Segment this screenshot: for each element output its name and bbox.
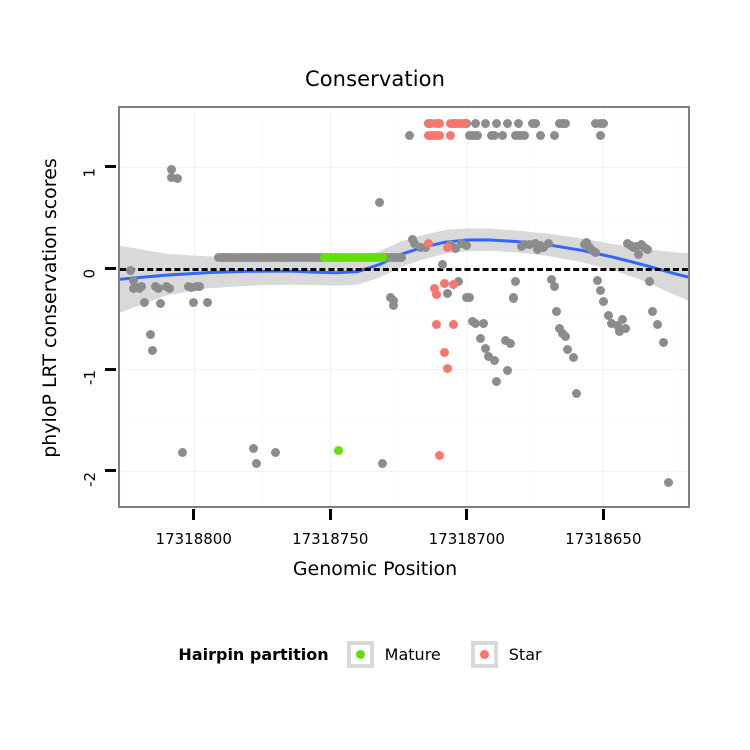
legend-items: MatureStar [347, 641, 572, 668]
y-axis-label: phyloP LRT conservation scores [39, 98, 61, 518]
legend: Hairpin partition MatureStar [0, 641, 750, 668]
data-point-other [561, 332, 570, 341]
x-tick-label: 17318750 [292, 530, 368, 548]
data-point-other [146, 330, 155, 339]
data-point-other [569, 353, 578, 362]
data-point-other [621, 324, 630, 333]
x-tick-label: 17318800 [156, 530, 232, 548]
data-point-other [490, 356, 499, 365]
y-tick-label: -2 [81, 472, 99, 487]
data-point-other [397, 253, 406, 262]
data-point-other [471, 119, 480, 128]
data-point-other [479, 319, 488, 328]
y-tick-label: -1 [81, 370, 99, 385]
data-point-star [443, 364, 452, 373]
legend-key-swatch [347, 641, 374, 668]
data-point-other [165, 284, 174, 293]
plot-area [120, 108, 688, 506]
data-point-other [252, 459, 261, 468]
x-axis-label: Genomic Position [0, 558, 750, 580]
conservation-chart: Conservation 10-1-2173188001731875017318… [0, 0, 750, 750]
data-point-other [195, 282, 204, 291]
y-tick-label: 1 [81, 168, 99, 178]
data-point-other [378, 459, 387, 468]
legend-item-star[interactable]: Star [471, 641, 566, 668]
y-tick-mark [105, 165, 116, 168]
legend-key-swatch [471, 641, 498, 668]
zero-reference-line [120, 268, 688, 271]
legend-item-mature[interactable]: Mature [347, 641, 465, 668]
data-point-star [460, 119, 469, 128]
data-point-other [173, 174, 182, 183]
data-point-star [449, 280, 458, 289]
y-tick-mark [105, 267, 116, 270]
legend-label: Mature [385, 645, 441, 664]
x-tick-mark [329, 509, 332, 520]
plot-panel [118, 106, 690, 508]
data-point-other [550, 282, 559, 291]
data-point-other [544, 239, 553, 248]
data-point-other [659, 338, 668, 347]
data-point-other [271, 448, 280, 457]
legend-dot-icon [480, 650, 489, 659]
data-point-other [148, 346, 157, 355]
y-tick-mark [105, 368, 116, 371]
data-point-other [572, 389, 581, 398]
x-tick-mark [192, 509, 195, 520]
data-point-star [432, 320, 441, 329]
y-tick-mark [105, 469, 116, 472]
x-tick-label: 17318700 [429, 530, 505, 548]
data-point-other [643, 245, 652, 254]
data-point-other [465, 293, 474, 302]
data-point-other [520, 131, 529, 140]
data-point-other [476, 334, 485, 343]
data-point-other [531, 119, 540, 128]
data-point-other [561, 119, 570, 128]
data-point-other [509, 294, 518, 303]
x-tick-label: 17318650 [565, 530, 641, 548]
data-point-other [599, 119, 608, 128]
data-point-mature [334, 446, 343, 455]
data-point-other [443, 289, 452, 298]
loess-smooth [120, 108, 688, 506]
legend-dot-icon [356, 650, 365, 659]
legend-title: Hairpin partition [178, 645, 328, 664]
data-point-mature [378, 253, 387, 262]
data-point-other [126, 266, 135, 275]
y-tick-label: 0 [81, 269, 99, 279]
data-point-other [596, 286, 605, 295]
x-tick-mark [465, 509, 468, 520]
data-point-other [563, 345, 572, 354]
data-point-other [645, 277, 654, 286]
data-point-star [435, 451, 444, 460]
data-point-star [449, 320, 458, 329]
chart-title: Conservation [0, 67, 750, 91]
data-point-other [591, 248, 600, 257]
legend-label: Star [509, 645, 542, 664]
x-tick-mark [602, 509, 605, 520]
data-point-other [503, 366, 512, 375]
data-point-other [648, 307, 657, 316]
data-point-star [443, 243, 452, 252]
data-point-other [550, 131, 559, 140]
